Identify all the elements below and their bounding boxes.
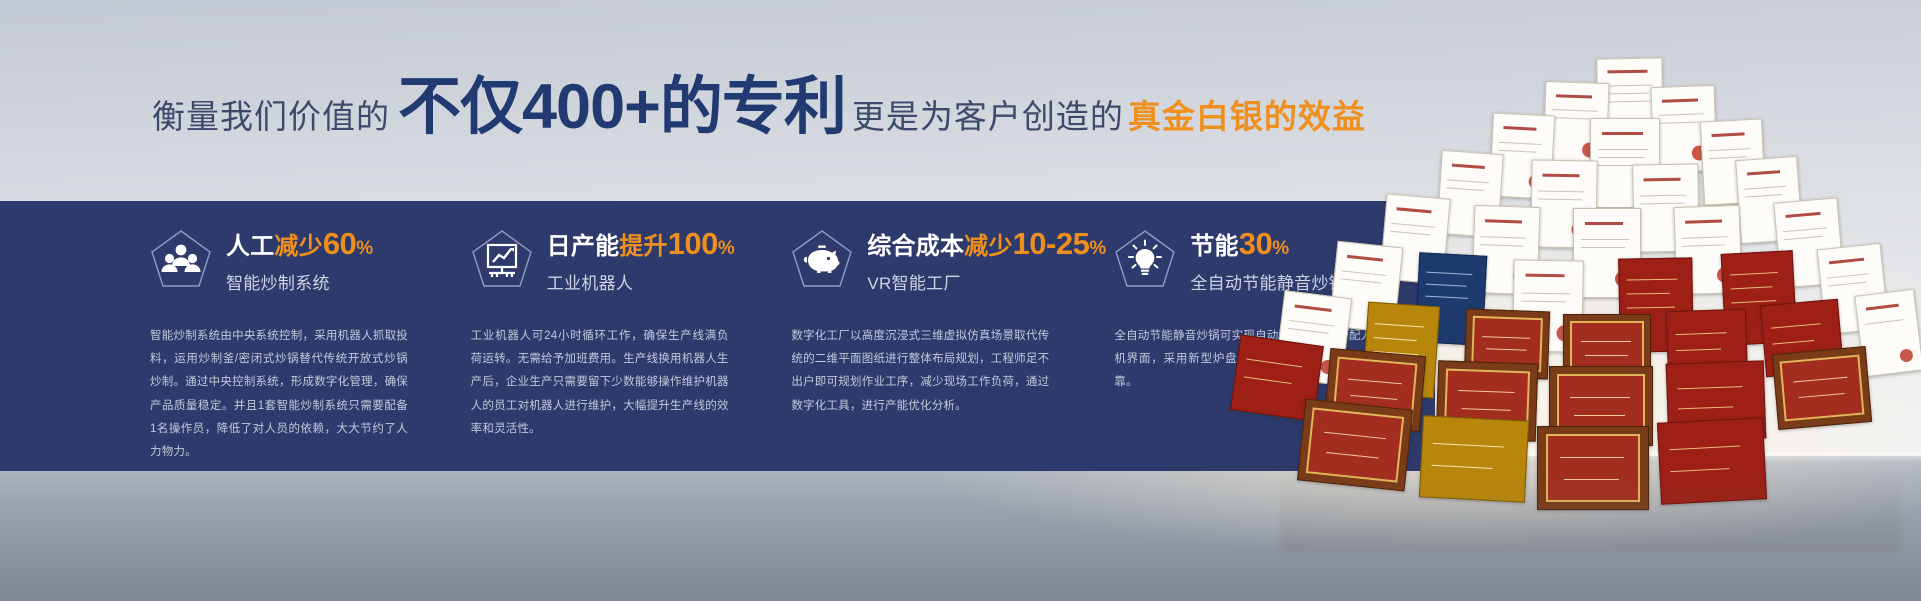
feature-title-unit: % [356,238,373,259]
feature-title: 综合成本减少10-25% [867,226,1106,262]
feature-title-action: 减少 [274,233,322,260]
feature-title-number: 60 [323,226,356,261]
headline-middle: 更是为客户创造的 [852,90,1124,138]
feature-item: 综合成本减少10-25% VR智能工厂 数字化工厂以高度沉浸式三维虚拟仿真场景取… [791,201,1086,471]
feature-subtitle: 工业机器人 [547,269,735,294]
headline-emphasis: 不仅400+的专利 [398,76,846,139]
headline-lead: 衡量我们价值的 [152,90,390,138]
feature-title-number: 100 [668,226,718,261]
feature-body: 数字化工厂以高度沉浸式三维虚拟仿真场景取代传统的二维平面图纸进行整体布局规划，工… [791,325,1049,418]
feature-title-label: 日产能 [547,233,620,260]
feature-title-action: 减少 [964,233,1012,260]
feature-title: 日产能提升100% [547,226,735,262]
feature-subtitle: VR智能工厂 [867,269,1106,294]
certificate-pyramid [1215,48,1921,518]
feature-item: 人工减少60% 智能炒制系统 智能炒制系统由中央系统控制，采用机器人抓取投料，运… [150,201,443,471]
people-group-icon [150,229,212,289]
chart-board-icon [471,229,533,289]
feature-title-unit: % [718,238,735,259]
feature-body: 工业机器人可24小时循环工作，确保生产线满负荷运转。无需给予加班费用。生产线换用… [471,325,729,441]
award-plaque [1772,346,1872,430]
feature-title-number: 10-25 [1013,226,1090,261]
feature-title-label: 综合成本 [867,233,964,260]
headline: 衡量我们价值的 不仅400+的专利 更是为客户创造的 真金白银的效益 [152,76,1366,139]
feature-item: 日产能提升100% 工业机器人 工业机器人可24小时循环工作，确保生产线满负荷运… [471,201,764,471]
promo-banner: 衡量我们价值的 不仅400+的专利 更是为客户创造的 真金白银的效益 [0,0,1921,601]
lightbulb-icon [1114,229,1176,289]
feature-title: 人工减少60% [226,226,373,262]
piggy-bank-icon [791,229,853,289]
certificate-reflection [1280,470,1900,552]
feature-subtitle: 智能炒制系统 [226,269,373,294]
feature-title-action: 提升 [619,233,667,260]
feature-body: 智能炒制系统由中央系统控制，采用机器人抓取投料，运用炒制釜/密闭式炒锅替代传统开… [150,325,408,464]
feature-title-unit: % [1089,238,1106,259]
feature-title-label: 人工 [226,233,274,260]
